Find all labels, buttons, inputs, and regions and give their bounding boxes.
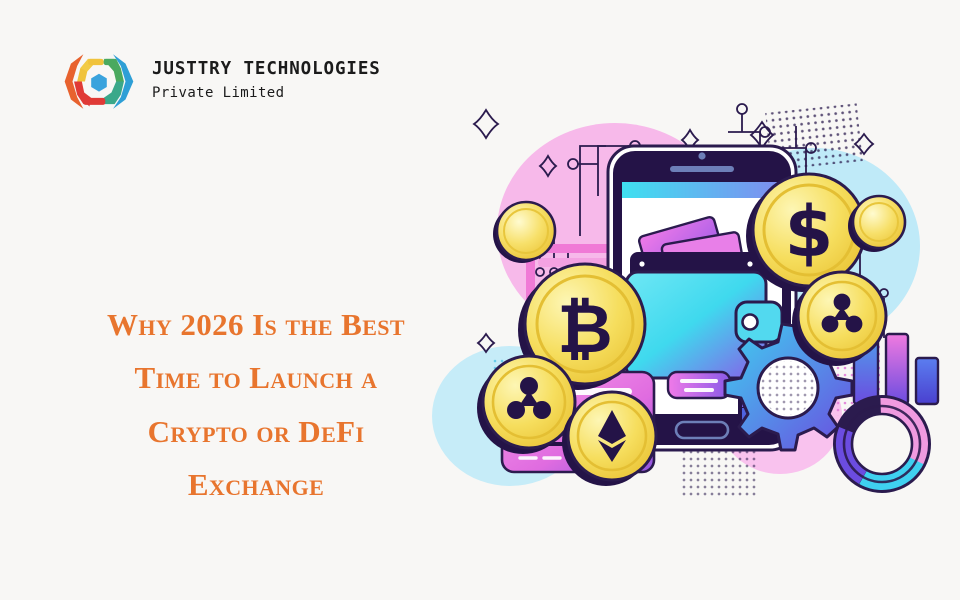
headline-line-4: Exchange bbox=[56, 458, 456, 511]
app-header-bar bbox=[622, 182, 782, 198]
phone-camera-icon bbox=[698, 152, 705, 159]
svg-text:₿: ₿ bbox=[557, 290, 612, 369]
brand-text-block: JUSTTRY TECHNOLOGIES Private Limited bbox=[152, 59, 381, 102]
brand-logo-lockup[interactable]: JUSTTRY TECHNOLOGIES Private Limited bbox=[60, 48, 381, 114]
headline-line-1: Why 2026 Is the Best bbox=[56, 298, 456, 351]
crypto-defi-illustration: ₿ $ bbox=[430, 86, 960, 506]
app-pill-button bbox=[668, 372, 730, 398]
page-title: Why 2026 Is the Best Time to Launch a Cr… bbox=[56, 298, 456, 511]
phone-speaker bbox=[670, 166, 734, 172]
headline-line-2: Time to Launch a bbox=[56, 351, 456, 404]
headline-line-3: Crypto or DeFi bbox=[56, 405, 456, 458]
brand-subtitle: Private Limited bbox=[152, 84, 381, 102]
svg-text:$: $ bbox=[785, 191, 834, 273]
brand-name: JUSTTRY TECHNOLOGIES bbox=[152, 59, 381, 79]
hexagon-chevron-logo-icon bbox=[60, 48, 138, 114]
